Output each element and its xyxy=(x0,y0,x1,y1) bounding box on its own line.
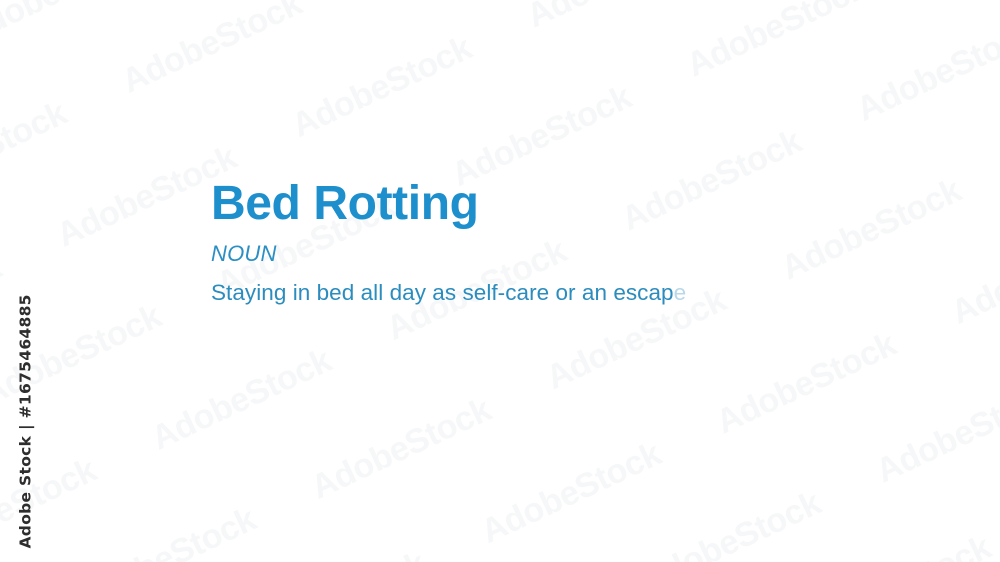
credit-strip: Adobe Stock | #1675464885 xyxy=(0,0,52,562)
definition-card: Bed Rotting NOUN Staying in bed all day … xyxy=(211,178,686,306)
watermark-text: AdobeStock xyxy=(870,374,1000,491)
definition-text: Staying in bed all day as self-care or a… xyxy=(211,280,686,306)
watermark-row: AdobeStockAdobeStockAdobeStockAdobeStock… xyxy=(0,356,1000,562)
watermark-text: AdobeStock xyxy=(116,0,308,101)
definition-text-fade-tail: e xyxy=(674,280,687,305)
watermark-text: AdobeStock xyxy=(240,544,432,562)
watermark-text: AdobeStock xyxy=(710,325,902,442)
part-of-speech-label: NOUN xyxy=(211,242,686,266)
image-canvas: AdobeStockAdobeStockAdobeStockAdobeStock… xyxy=(0,0,1000,562)
stock-credit-text: Adobe Stock | #1675464885 xyxy=(18,294,34,548)
watermark-row: AdobeStockAdobeStockAdobeStockAdobeStock… xyxy=(0,457,1000,562)
watermark-text: AdobeStock xyxy=(945,215,1000,332)
watermark-text: AdobeStock xyxy=(635,484,827,562)
watermark-text: AdobeStock xyxy=(851,12,1000,129)
definition-text-main: Staying in bed all day as self-care or a… xyxy=(211,280,674,305)
watermark-text: AdobeStock xyxy=(286,28,478,145)
watermark-text: AdobeStock xyxy=(681,0,873,85)
watermark-text: AdobeStock xyxy=(145,341,337,458)
watermark-text: AdobeStock xyxy=(775,171,967,288)
watermark-text: AdobeStock xyxy=(70,500,262,562)
watermark-row: AdobeStockAdobeStockAdobeStockAdobeStock… xyxy=(0,51,1000,562)
watermark-text: AdobeStock xyxy=(805,528,997,562)
watermark-text: AdobeStock xyxy=(475,435,667,552)
term-title: Bed Rotting xyxy=(211,178,686,230)
watermark-text: AdobeStock xyxy=(305,390,497,507)
watermark-text: AdobeStock xyxy=(521,0,713,36)
